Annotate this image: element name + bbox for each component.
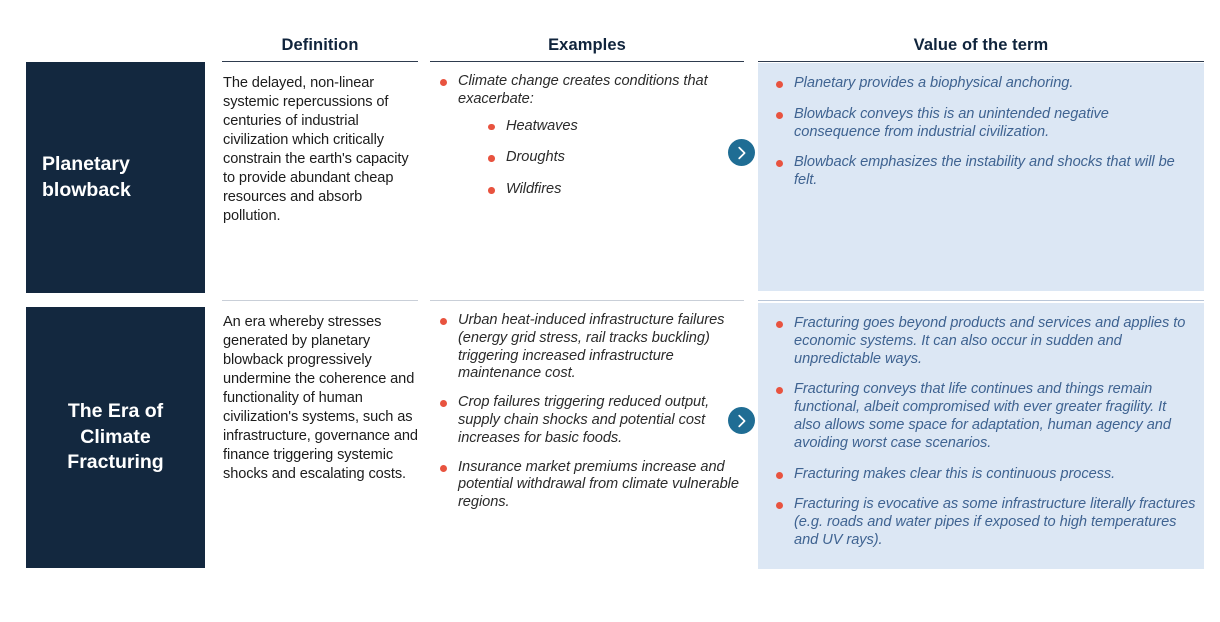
- list-item-text: Droughts: [506, 149, 565, 165]
- row2-rule-examples: [430, 300, 744, 301]
- bullet-list: Climate change creates conditions that e…: [432, 73, 742, 199]
- term-label: The Era of Climate Fracturing: [42, 399, 189, 475]
- list-item: Climate change creates conditions that e…: [432, 73, 742, 199]
- header-rule-value: [758, 61, 1204, 62]
- list-item-text: Climate change creates conditions that e…: [458, 73, 708, 107]
- list-item: Fracturing goes beyond products and serv…: [768, 315, 1196, 368]
- term-box-planetary-blowback: Planetary blowback: [26, 62, 205, 293]
- list-item-text: Blowback conveys this is an unintended n…: [794, 106, 1109, 140]
- list-item: Wildfires: [480, 181, 742, 199]
- list-item: Urban heat-induced infrastructure failur…: [432, 312, 742, 383]
- list-item-text: Heatwaves: [506, 118, 578, 134]
- chevron-right-icon[interactable]: [728, 139, 755, 166]
- list-item: Insurance market premiums increase and p…: [432, 459, 742, 512]
- definition-text-row1: The delayed, non-linear systemic repercu…: [223, 74, 419, 226]
- slide-canvas: Definition Examples Value of the term Pl…: [0, 0, 1220, 622]
- list-item: Blowback conveys this is an unintended n…: [768, 106, 1196, 142]
- list-item-text: Fracturing is evocative as some infrastr…: [794, 496, 1195, 548]
- header-rule-definition: [222, 61, 418, 62]
- list-item-text: Planetary provides a biophysical anchori…: [794, 75, 1073, 91]
- column-header-examples: Examples: [430, 36, 744, 55]
- term-label: Planetary blowback: [42, 152, 189, 203]
- list-item: Fracturing is evocative as some infrastr…: [768, 496, 1196, 549]
- header-rule-examples: [430, 61, 744, 62]
- bullet-list: Urban heat-induced infrastructure failur…: [432, 312, 742, 512]
- definition-text-row2: An era whereby stresses generated by pla…: [223, 313, 419, 484]
- bullet-list: Fracturing goes beyond products and serv…: [768, 315, 1196, 550]
- list-item-text: Wildfires: [506, 181, 561, 197]
- row2-rule-definition: [222, 300, 418, 301]
- list-item: Heatwaves: [480, 118, 742, 136]
- list-item-text: Insurance market premiums increase and p…: [458, 459, 739, 511]
- list-item: Droughts: [480, 149, 742, 167]
- list-item: Crop failures triggering reduced output,…: [432, 394, 742, 447]
- list-item-text: Fracturing conveys that life continues a…: [794, 381, 1171, 450]
- value-panel-row2: Fracturing goes beyond products and serv…: [758, 303, 1204, 569]
- column-header-definition: Definition: [222, 36, 418, 55]
- list-item-text: Blowback emphasizes the instability and …: [794, 154, 1175, 188]
- list-item: Planetary provides a biophysical anchori…: [768, 75, 1196, 93]
- row2-rule-value: [758, 300, 1204, 301]
- bullet-list: Planetary provides a biophysical anchori…: [768, 75, 1196, 190]
- list-item-text: Crop failures triggering reduced output,…: [458, 394, 709, 446]
- term-box-era-of-climate-fracturing: The Era of Climate Fracturing: [26, 307, 205, 568]
- examples-list-row2: Urban heat-induced infrastructure failur…: [432, 312, 742, 512]
- value-panel-row1: Planetary provides a biophysical anchori…: [758, 63, 1204, 291]
- list-item-text: Urban heat-induced infrastructure failur…: [458, 312, 724, 381]
- examples-list-row1: Climate change creates conditions that e…: [432, 73, 742, 199]
- sub-bullet-list: Heatwaves Droughts Wildfires: [480, 118, 742, 199]
- column-header-value: Value of the term: [758, 36, 1204, 55]
- list-item: Fracturing makes clear this is continuou…: [768, 466, 1196, 484]
- list-item-text: Fracturing makes clear this is continuou…: [794, 466, 1115, 482]
- list-item: Fracturing conveys that life continues a…: [768, 381, 1196, 452]
- list-item: Blowback emphasizes the instability and …: [768, 154, 1196, 190]
- chevron-right-icon[interactable]: [728, 407, 755, 434]
- list-item-text: Fracturing goes beyond products and serv…: [794, 315, 1185, 367]
